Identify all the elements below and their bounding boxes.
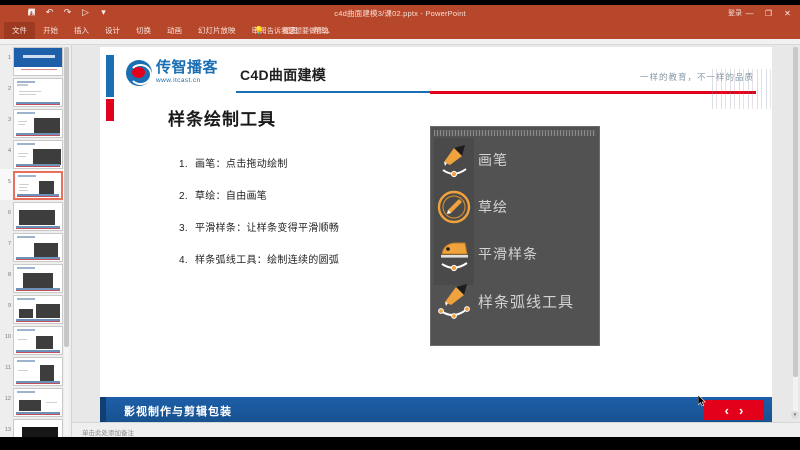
list-item: 草绘 — [434, 186, 599, 228]
thumb-image — [33, 149, 61, 165]
bullet-number: 1. — [176, 159, 188, 170]
list-item[interactable]: 6 — [0, 200, 68, 231]
slide-number: 12 — [2, 388, 11, 403]
thumb-line — [18, 124, 25, 125]
thumb-foot2 — [16, 290, 60, 291]
thumb-subtitle — [21, 69, 57, 71]
tab-animations[interactable]: 动画 — [159, 22, 190, 39]
thumb-foot2 — [17, 196, 59, 197]
restore-button[interactable]: ❐ — [760, 6, 777, 20]
footer-text: 影视制作与剪辑包装 — [124, 403, 232, 419]
slide-thumbnail[interactable] — [13, 357, 63, 386]
bullet-number: 3. — [176, 223, 188, 234]
title-bar: 🖪 ↶ ↷ ▷ ▾ c4d曲面建模3/课02.pptx - PowerPoint… — [0, 5, 800, 22]
slide-number: 8 — [2, 264, 11, 279]
ribbon-display-options-icon[interactable]: ▫ — [722, 6, 739, 20]
thumb-line — [19, 187, 27, 188]
tab-design[interactable]: 设计 — [97, 22, 128, 39]
thumb-head — [18, 175, 36, 177]
thumb-image — [19, 309, 33, 318]
logo-company-name: 传智播客 — [156, 60, 218, 76]
thumb-title-text — [23, 55, 55, 58]
bullet-number: 4. — [176, 255, 188, 266]
ribbon-tab-bar: 文件 开始 插入 设计 切换 动画 幻灯片放映 审阅 视图 帮助 💡 告诉我您想… — [0, 22, 800, 39]
thumb-foot2 — [16, 352, 60, 353]
thumb-line — [18, 370, 28, 371]
thumb-line — [18, 339, 27, 340]
itcast-logo: 传智播客 www.itcast.cn — [126, 60, 218, 86]
notes-pane[interactable]: 单击此处添加备注 — [72, 422, 800, 437]
slide-thumbnail[interactable] — [13, 109, 63, 138]
list-item: 样条弧线工具 — [434, 280, 599, 322]
slide-number: 13 — [2, 419, 11, 434]
thumb-foot2 — [16, 166, 60, 167]
thumb-foot2 — [16, 414, 60, 415]
slide-header-title: C4D曲面建模 — [240, 65, 326, 85]
thumb-foot2 — [16, 135, 60, 136]
list-item[interactable]: 11 — [0, 355, 68, 386]
slide-number: 10 — [2, 326, 11, 341]
header-rule-red — [430, 91, 756, 94]
thumb-line — [19, 190, 28, 191]
thumb-image — [36, 336, 53, 349]
current-slide[interactable]: 传智播客 www.itcast.cn C4D曲面建模 一样的教育，不一样的品质 … — [100, 47, 772, 423]
window-title: c4d曲面建模3/课02.pptx - PowerPoint — [0, 8, 800, 19]
tell-me-label: 告诉我您想要做什么 — [267, 26, 330, 36]
tell-me-search[interactable]: 💡 告诉我您想要做什么 — [254, 22, 330, 39]
bullet-number: 2. — [176, 191, 188, 202]
minimize-button[interactable]: — — [741, 6, 758, 20]
thumb-line — [19, 94, 36, 95]
close-button[interactable]: ✕ — [779, 6, 796, 20]
list-item[interactable]: 10 — [0, 324, 68, 355]
logo-website: www.itcast.cn — [156, 77, 218, 84]
thumb-line — [18, 121, 27, 122]
bullet-text: 平滑样条：让样条变得平滑顺畅 — [195, 219, 339, 234]
thumb-head — [17, 298, 35, 300]
sketch-circle-icon — [434, 187, 474, 227]
list-item: 画笔 — [434, 139, 599, 181]
nav-prev-button[interactable]: ‹ — [725, 404, 729, 417]
slide-accent-red — [106, 99, 114, 121]
thumb-line — [18, 156, 26, 157]
list-item[interactable]: 4 — [0, 138, 68, 169]
slide-thumbnail[interactable] — [13, 202, 63, 231]
slide-number: 7 — [2, 233, 11, 248]
slide-thumbnail[interactable] — [13, 264, 63, 293]
slide-editing-area[interactable]: 传智播客 www.itcast.cn C4D曲面建模 一样的教育，不一样的品质 … — [72, 45, 800, 437]
thumb-head2 — [17, 84, 28, 86]
thumb-head — [17, 360, 35, 362]
c4d-menu-label: 平滑样条 — [478, 244, 538, 264]
slide-number: 5 — [2, 171, 11, 186]
thumb-foot2 — [16, 383, 60, 384]
tab-slideshow[interactable]: 幻灯片放映 — [190, 22, 244, 39]
thumb-head — [17, 329, 35, 331]
thumb-image — [19, 400, 41, 411]
c4d-menu-label: 画笔 — [478, 150, 508, 170]
slide-footer: 影视制作与剪辑包装 ‹ › — [100, 397, 772, 423]
slide-thumbnail[interactable] — [13, 140, 63, 169]
smooth-spline-icon — [434, 234, 474, 274]
thumb-image — [23, 273, 53, 288]
list-item[interactable]: 8 — [0, 262, 68, 293]
slide-number: 6 — [2, 202, 11, 217]
thumb-head — [17, 112, 35, 114]
list-item[interactable]: 2 — [0, 76, 68, 107]
pen-icon — [434, 140, 474, 180]
list-item[interactable]: 9 — [0, 293, 68, 324]
slide-number: 2 — [2, 78, 11, 93]
list-item[interactable]: 3 — [0, 107, 68, 138]
thumb-head — [17, 81, 35, 83]
list-item-selected[interactable]: 5 — [0, 169, 68, 200]
list-item[interactable]: 12 — [0, 386, 68, 417]
thumb-foot2 — [16, 259, 60, 260]
thumb-line — [19, 91, 41, 92]
powerpoint-window: 🖪 ↶ ↷ ▷ ▾ c4d曲面建模3/课02.pptx - PowerPoint… — [0, 0, 800, 450]
lightbulb-icon: 💡 — [254, 26, 264, 35]
thumb-image — [40, 365, 54, 381]
list-item: 平滑样条 — [434, 233, 599, 275]
tab-file[interactable]: 文件 — [4, 22, 35, 39]
slide-thumbnail[interactable] — [13, 295, 63, 324]
thumb-image — [34, 243, 58, 257]
drag-handle-icon — [434, 130, 596, 136]
thumbnail-scrollbar-thumb[interactable] — [64, 47, 69, 347]
bullet-text: 画笔：点击拖动绘制 — [195, 155, 288, 170]
slide-thumbnail[interactable] — [13, 419, 63, 437]
thumb-image — [36, 304, 60, 318]
footer-accent — [100, 397, 106, 423]
arc-pen-icon — [434, 281, 474, 321]
slide-nav-buttons[interactable]: ‹ › — [704, 400, 764, 420]
thumb-foot2 — [16, 321, 60, 322]
bullet-text: 样条弧线工具：绘制连续的圆弧 — [195, 251, 339, 266]
thumb-line — [18, 153, 28, 154]
thumb-image — [22, 427, 58, 437]
thumb-head — [17, 267, 35, 269]
thumb-foot2 — [16, 104, 60, 105]
slide-thumbnail-list: 1 2 — [0, 45, 68, 437]
workspace: 1 2 — [0, 45, 800, 437]
thumb-line — [46, 402, 57, 403]
slide-thumbnail[interactable] — [13, 388, 63, 417]
thumb-head — [17, 236, 35, 238]
slide-thumbnail[interactable] — [13, 78, 63, 107]
thumbnail-scrollbar[interactable] — [64, 47, 69, 435]
tab-insert[interactable]: 插入 — [66, 22, 97, 39]
slide-accent-blue — [106, 55, 114, 97]
list-item[interactable]: 13 — [0, 417, 68, 437]
thumb-foot2 — [16, 228, 60, 229]
window-controls: ▫ — ❐ ✕ — [722, 6, 796, 20]
letterbox-bottom — [0, 437, 800, 450]
page-title: 样条绘制工具 — [168, 105, 276, 130]
slide-number: 9 — [2, 295, 11, 310]
slide-number: 11 — [2, 357, 11, 372]
stage-scrollbar-thumb[interactable] — [793, 47, 798, 377]
list-item[interactable]: 1 — [0, 45, 68, 76]
slide-thumbnail-pane[interactable]: 1 2 — [0, 45, 72, 437]
thumb-head — [17, 143, 35, 145]
slide-slogan: 一样的教育，不一样的品质 — [640, 71, 754, 83]
c4d-menu-label: 草绘 — [478, 197, 508, 217]
slide-thumbnail[interactable] — [13, 326, 63, 355]
bullet-text: 草绘：自由画笔 — [195, 187, 267, 202]
list-item[interactable]: 7 — [0, 231, 68, 262]
scroll-down-icon[interactable]: ▾ — [791, 411, 799, 419]
slide-thumbnail[interactable] — [13, 233, 63, 262]
nav-next-button[interactable]: › — [739, 404, 743, 417]
thumb-image — [34, 118, 60, 134]
slide-thumbnail[interactable] — [13, 171, 63, 200]
thumb-head — [17, 391, 35, 393]
tab-transitions[interactable]: 切换 — [128, 22, 159, 39]
tab-home[interactable]: 开始 — [35, 22, 66, 39]
slide-number: 3 — [2, 109, 11, 124]
stage-scrollbar[interactable] — [793, 47, 798, 419]
slide-thumbnail[interactable] — [13, 47, 63, 76]
logo-text: 传智播客 www.itcast.cn — [156, 60, 218, 84]
thumb-line — [19, 184, 29, 185]
c4d-menu-label: 样条弧线工具 — [478, 291, 574, 312]
slide-number: 4 — [2, 140, 11, 155]
notes-placeholder: 单击此处添加备注 — [82, 427, 134, 437]
thumb-image — [19, 210, 55, 225]
c4d-menu-screenshot: 画笔 草绘 — [430, 126, 600, 346]
slide-number: 1 — [2, 47, 11, 62]
logo-mark-icon — [126, 60, 152, 86]
